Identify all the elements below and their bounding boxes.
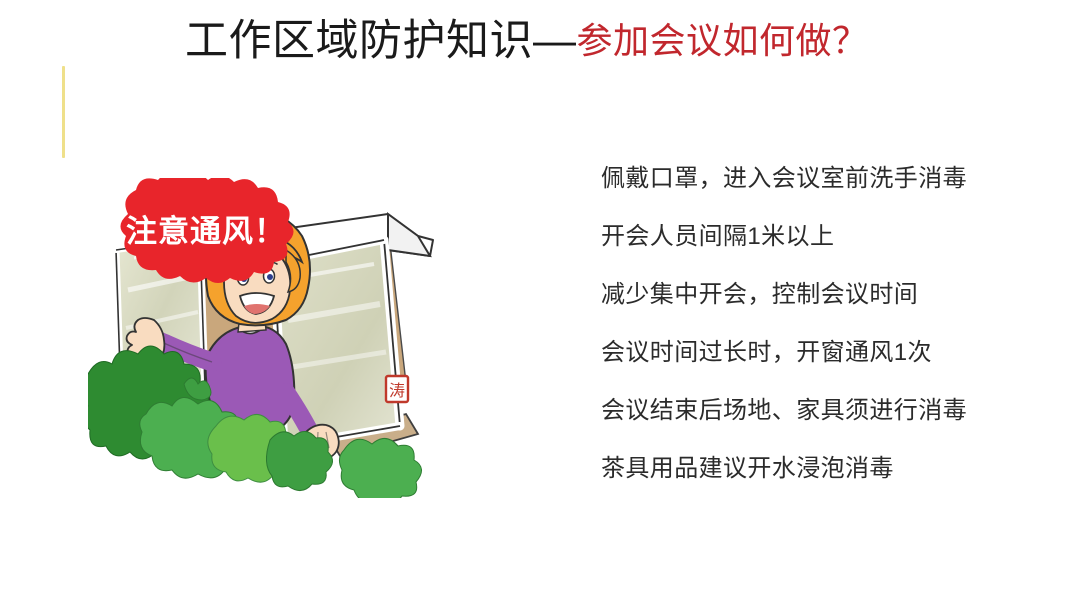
guidance-bullet-list: 佩戴口罩，进入会议室前洗手消毒 开会人员间隔1米以上 减少集中开会，控制会议时间… [601,150,1021,498]
page-title-accent: 参加会议如何做？ [577,20,869,61]
artist-seal-stamp: 涛 [386,376,408,402]
artist-seal-text: 涛 [389,382,405,400]
bullet-item-2: 开会人员间隔1米以上 [601,208,1021,266]
illustration-woman-opening-window: 注意通风！ 涛 [88,178,448,498]
page-title-main: 工作区域防护知识— [185,17,577,65]
slide-canvas: 工作区域防护知识—参加会议如何做？ [0,0,1080,603]
bullet-item-6: 茶具用品建议开水浸泡消毒 [601,440,1021,498]
page-title: 工作区域防护知识—参加会议如何做？ [185,18,869,64]
speech-bubble-text: 注意通风！ [126,214,286,249]
speech-bubble-ventilation: 注意通风！ [120,178,293,283]
bullet-item-4: 会议时间过长时，开窗通风1次 [601,324,1021,382]
bullet-item-1: 佩戴口罩，进入会议室前洗手消毒 [601,150,1021,208]
bullet-item-5: 会议结束后场地、家具须进行消毒 [601,382,1021,440]
bullet-item-3: 减少集中开会，控制会议时间 [601,266,1021,324]
accent-rule-divider [62,66,65,158]
